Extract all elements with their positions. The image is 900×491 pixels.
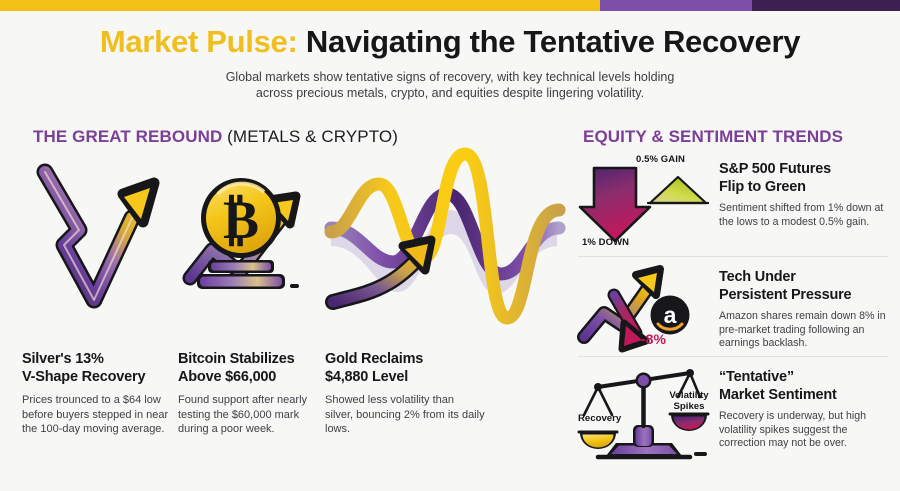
infographic-canvas: Market Pulse: Navigating the Tentative R…: [0, 0, 900, 491]
label-up-gain: 0.5% GAIN: [636, 154, 685, 165]
row-sp500-title-line-1: S&P 500 Futures: [719, 161, 888, 179]
section-header-equity-sentiment: EQUITY & SENTIMENT TRENDS: [583, 127, 843, 147]
card-gold-art: [325, 150, 565, 342]
section-header-metals-crypto: THE GREAT REBOUND (METALS & CRYPTO): [33, 127, 398, 147]
row-sp500-title-line-2: Flip to Green: [719, 179, 888, 197]
card-gold: Gold Reclaims $4,880 Level Showed less v…: [325, 150, 565, 437]
row-scale-body: Recovery is underway, but high volatilit…: [719, 410, 888, 451]
card-gold-body: Showed less volatility than silver, boun…: [325, 393, 485, 437]
page-subtitle-line-2: across precious metals, crypto, and equi…: [0, 85, 900, 101]
page-title: Market Pulse: Navigating the Tentative R…: [0, 11, 900, 60]
metals-crypto-card-group: Silver's 13% V-Shape Recovery Prices tro…: [0, 150, 568, 450]
page-title-accent: Market Pulse:: [100, 24, 298, 59]
card-bitcoin-title-line-1: Bitcoin Stabilizes: [178, 351, 323, 369]
equity-sentiment-row-group: 0.5% GAIN 1% DOWN S&P 500 Futures Flip t…: [578, 155, 888, 466]
page-subtitle-line-1: Global markets show tentative signs of r…: [0, 69, 900, 85]
row-market-sentiment: Recovery Volatility Spikes “Tentative” M…: [578, 356, 888, 466]
section-header-left-suffix: (METALS & CRYPTO): [227, 127, 398, 146]
row-tech-pressure: a -8% Tech Under Persistent Pressure Ama…: [578, 256, 888, 356]
row-sp500-art: 0.5% GAIN 1% DOWN: [578, 155, 715, 256]
row-tech-title-line-2: Persistent Pressure: [719, 287, 888, 305]
accent-segment-mid-purple: [600, 0, 752, 11]
card-gold-title: Gold Reclaims $4,880 Level: [325, 351, 565, 386]
label-pan-volatility-line-2: Spikes: [674, 401, 705, 412]
section-header-left-highlight: THE GREAT REBOUND: [33, 127, 222, 146]
card-gold-title-line-1: Gold Reclaims: [325, 351, 565, 369]
v-shape-recovery-arrow-icon: [22, 150, 177, 342]
card-bitcoin-art: ₿: [178, 150, 323, 342]
row-tech-art: a -8%: [578, 263, 715, 356]
card-silver-title: Silver's 13% V-Shape Recovery: [22, 351, 177, 386]
label-down-move: 1% DOWN: [582, 237, 629, 248]
card-bitcoin-body: Found support after nearly testing the $…: [178, 393, 323, 437]
label-pan-volatility-line-1: Volatility: [669, 390, 708, 401]
row-scale-title-line-1: “Tentative”: [719, 369, 888, 387]
amazon-badge-glyph: a: [664, 302, 677, 328]
row-scale-art: Recovery Volatility Spikes: [578, 363, 715, 466]
card-bitcoin: ₿ Bitcoin Stabilizes Above $66,000 Found…: [178, 150, 323, 437]
section-header-right-highlight: EQUITY & SENTIMENT TRENDS: [583, 127, 843, 146]
row-tech-title: Tech Under Persistent Pressure: [719, 269, 888, 304]
top-accent-bar: [0, 0, 900, 11]
page-subtitle: Global markets show tentative signs of r…: [0, 69, 900, 101]
page-title-main: Navigating the Tentative Recovery: [306, 24, 800, 59]
row-sp500-text: S&P 500 Futures Flip to Green Sentiment …: [715, 155, 888, 229]
bitcoin-symbol: ₿: [223, 190, 259, 250]
row-tech-body: Amazon shares remain down 8% in pre-mark…: [719, 310, 888, 351]
row-sp500-title: S&P 500 Futures Flip to Green: [719, 161, 888, 196]
row-scale-title-line-2: Market Sentiment: [719, 387, 888, 405]
card-silver-title-line-2: V-Shape Recovery: [22, 369, 177, 387]
card-silver: Silver's 13% V-Shape Recovery Prices tro…: [22, 150, 177, 437]
card-bitcoin-title-line-2: Above $66,000: [178, 369, 323, 387]
label-tech-percent: -8%: [641, 331, 666, 347]
card-silver-body: Prices trounced to a $64 low before buye…: [22, 393, 177, 437]
label-pan-volatility: Volatility Spikes: [666, 391, 712, 412]
card-silver-art: [22, 150, 177, 342]
header: Market Pulse: Navigating the Tentative R…: [0, 11, 900, 101]
card-silver-title-line-1: Silver's 13%: [22, 351, 177, 369]
row-tech-title-line-1: Tech Under: [719, 269, 888, 287]
card-bitcoin-title: Bitcoin Stabilizes Above $66,000: [178, 351, 323, 386]
label-pan-recovery: Recovery: [578, 414, 620, 425]
accent-segment-yellow: [0, 0, 600, 11]
row-tech-text: Tech Under Persistent Pressure Amazon sh…: [715, 263, 888, 351]
row-scale-title: “Tentative” Market Sentiment: [719, 369, 888, 404]
row-scale-text: “Tentative” Market Sentiment Recovery is…: [715, 363, 888, 451]
volatility-wave-icon: [325, 150, 565, 342]
row-sp500-body: Sentiment shifted from 1% down at the lo…: [719, 202, 888, 229]
bitcoin-coin-pedestal-icon: ₿: [178, 150, 323, 342]
card-gold-title-line-2: $4,880 Level: [325, 369, 565, 387]
accent-segment-dark-purple: [752, 0, 900, 11]
row-sp500-futures: 0.5% GAIN 1% DOWN S&P 500 Futures Flip t…: [578, 155, 888, 256]
